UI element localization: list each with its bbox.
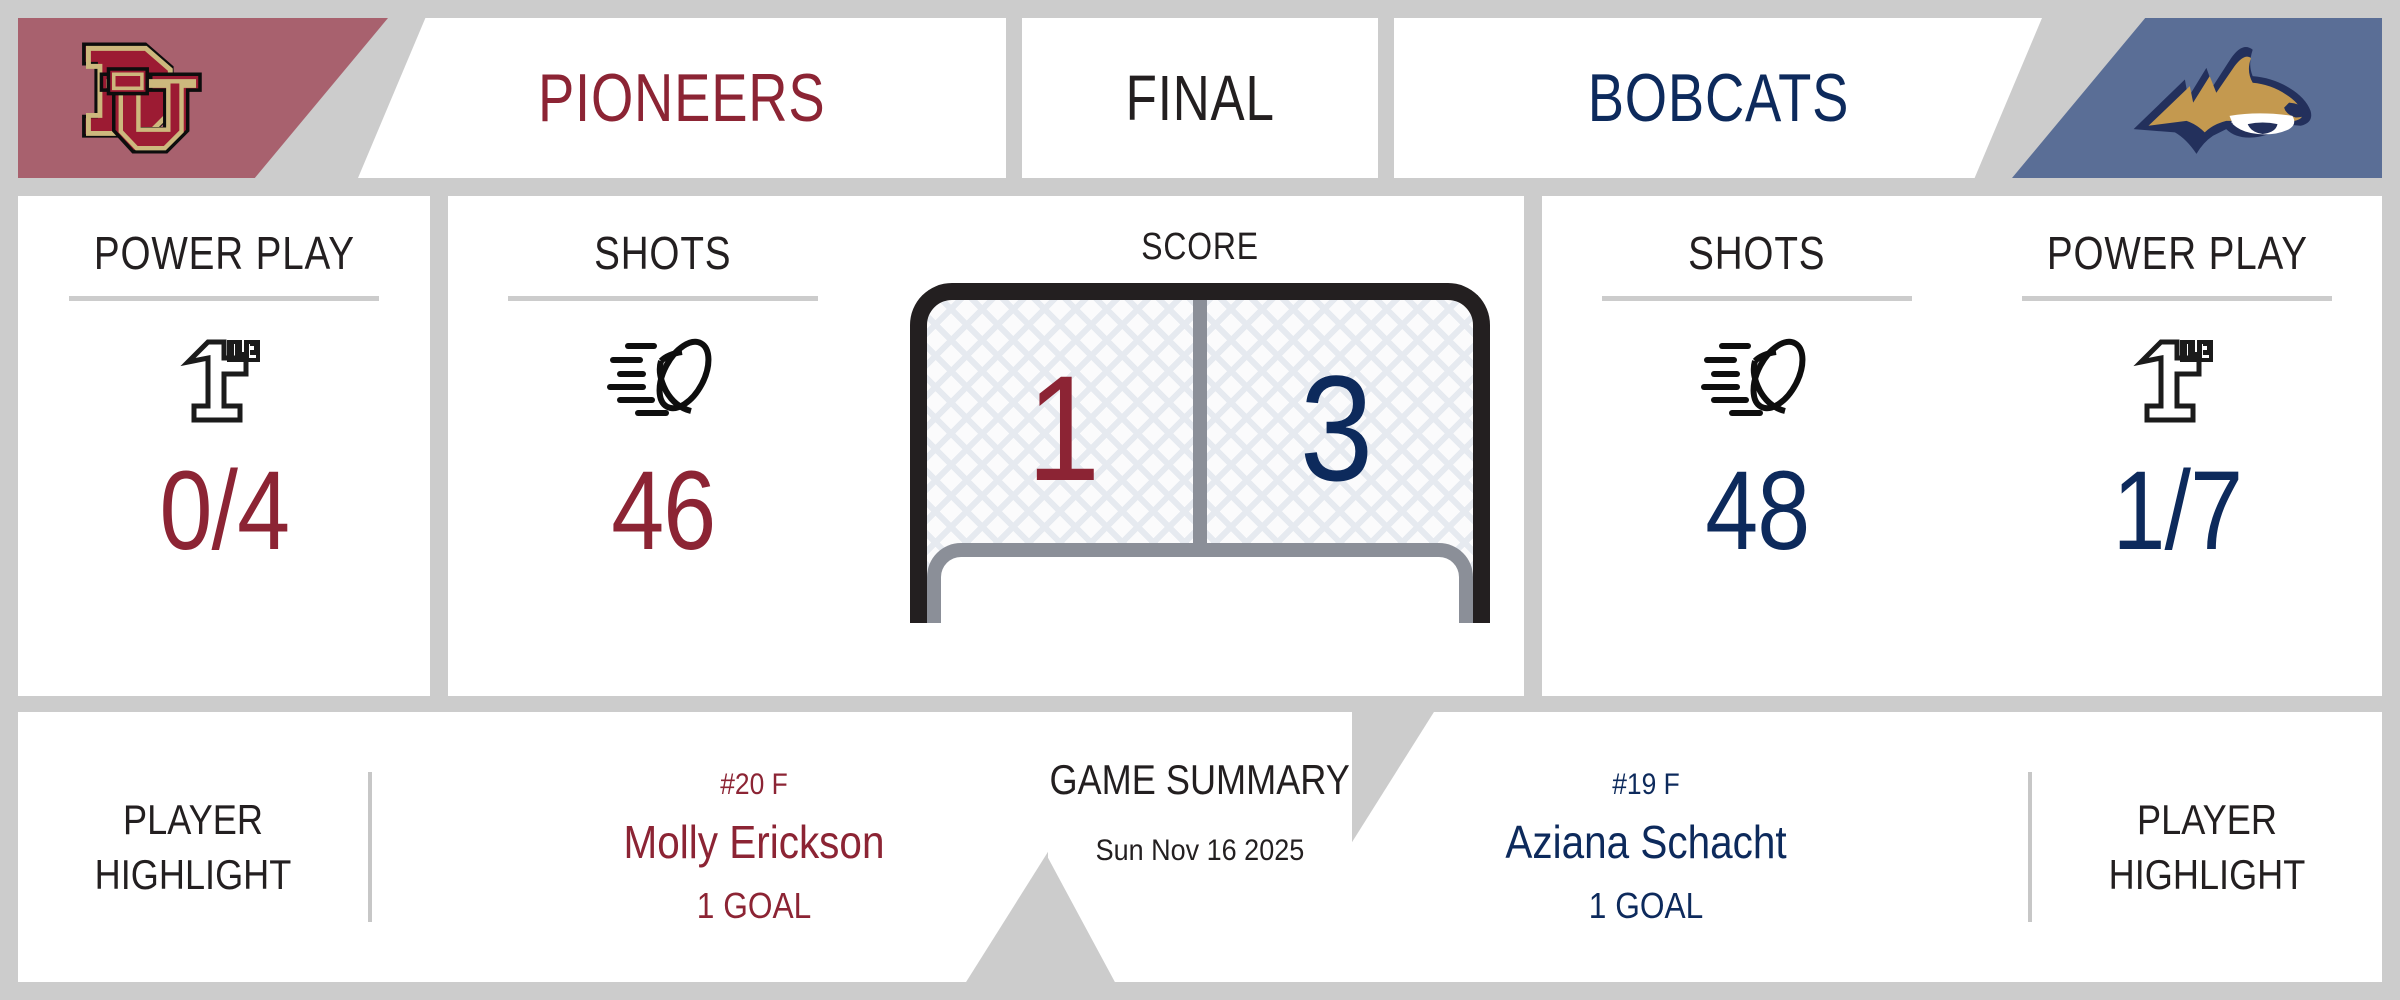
divider [2022, 296, 2332, 301]
home-power-play-title: POWER PLAY [93, 226, 354, 280]
label-line-2: HIGHLIGHT [2057, 847, 2358, 902]
home-shots-value: 46 [611, 446, 715, 575]
divider [2028, 772, 2032, 922]
away-power-play-title: POWER PLAY [2046, 226, 2307, 280]
one-up-icon [174, 330, 274, 430]
game-status-label: FINAL [1125, 61, 1274, 135]
away-highlight-player: #19 F Aziana Schacht 1 GOAL [1310, 764, 1982, 931]
home-team-name-card: PIONEERS [358, 18, 1006, 178]
away-team-name-card: BOBCATS [1394, 18, 2042, 178]
away-shots-title: SHOTS [1688, 226, 1825, 280]
away-player-name: Aziana Schacht [1310, 811, 1982, 874]
home-score: 1 [943, 300, 1183, 557]
bobcat-head-logo [2127, 36, 2342, 161]
away-player-highlight-label: PLAYER HIGHLIGHT [2057, 792, 2358, 903]
score-card: SCORE 1 3 [876, 196, 1524, 696]
game-summary-date: Sun Nov 16 2025 [1096, 834, 1305, 868]
score-values: 1 3 [927, 300, 1473, 557]
away-shots-card: SHOTS 48 [1542, 196, 1972, 696]
flying-puck-icon [596, 335, 731, 425]
home-player-name: Molly Erickson [418, 811, 1090, 874]
flying-puck-icon-wrap [1690, 327, 1825, 432]
du-monogram-logo [66, 32, 246, 164]
flying-puck-icon [1690, 335, 1825, 425]
home-player-number: #20 F [418, 764, 1090, 805]
away-power-play-card: POWER PLAY 1/7 [1972, 196, 2382, 696]
home-highlight-player: #20 F Molly Erickson 1 GOAL [418, 764, 1090, 931]
home-player-stat: 1 GOAL [418, 881, 1090, 931]
game-status-card: FINAL [1022, 18, 1378, 178]
away-player-stat: 1 GOAL [1310, 881, 1982, 931]
home-team-name: PIONEERS [538, 59, 826, 137]
flying-puck-icon-wrap [596, 327, 731, 432]
home-shots-title: SHOTS [594, 226, 731, 280]
home-player-highlight-card: PLAYER HIGHLIGHT #20 F Molly Erickson 1 … [18, 712, 1136, 982]
away-player-number: #19 F [1310, 764, 1982, 805]
away-score: 3 [1216, 300, 1456, 557]
scoreboard-graphic: PIONEERS FINAL BOBCATS POWER PLAY [0, 0, 2400, 1000]
divider [508, 296, 818, 301]
away-player-highlight-card: #19 F Aziana Schacht 1 GOAL PLAYER HIGHL… [1264, 712, 2382, 982]
game-summary-title: GAME SUMMARY [1050, 756, 1350, 804]
home-shots-card: SHOTS 46 [448, 196, 878, 696]
one-up-icon [2127, 330, 2227, 430]
divider [69, 296, 379, 301]
divider [1602, 296, 1912, 301]
away-shots-value: 48 [1705, 446, 1809, 575]
hockey-net-icon: 1 3 [910, 283, 1490, 623]
home-power-play-card: POWER PLAY 0/4 [18, 196, 430, 696]
one-up-icon-wrap [174, 327, 274, 432]
one-up-icon-wrap [2127, 327, 2227, 432]
home-player-highlight-label: PLAYER HIGHLIGHT [43, 792, 344, 903]
label-line-1: PLAYER [43, 792, 344, 847]
label-line-2: HIGHLIGHT [43, 847, 344, 902]
label-line-1: PLAYER [2057, 792, 2358, 847]
game-summary-card[interactable]: GAME SUMMARY Sun Nov 16 2025 [1048, 712, 1352, 982]
away-team-logo-panel [2012, 18, 2382, 178]
divider [368, 772, 372, 922]
home-team-logo-panel [18, 18, 388, 178]
home-power-play-value: 0/4 [159, 446, 289, 575]
away-team-name: BOBCATS [1587, 59, 1849, 137]
away-power-play-value: 1/7 [2112, 446, 2242, 575]
score-title: SCORE [1141, 226, 1259, 269]
